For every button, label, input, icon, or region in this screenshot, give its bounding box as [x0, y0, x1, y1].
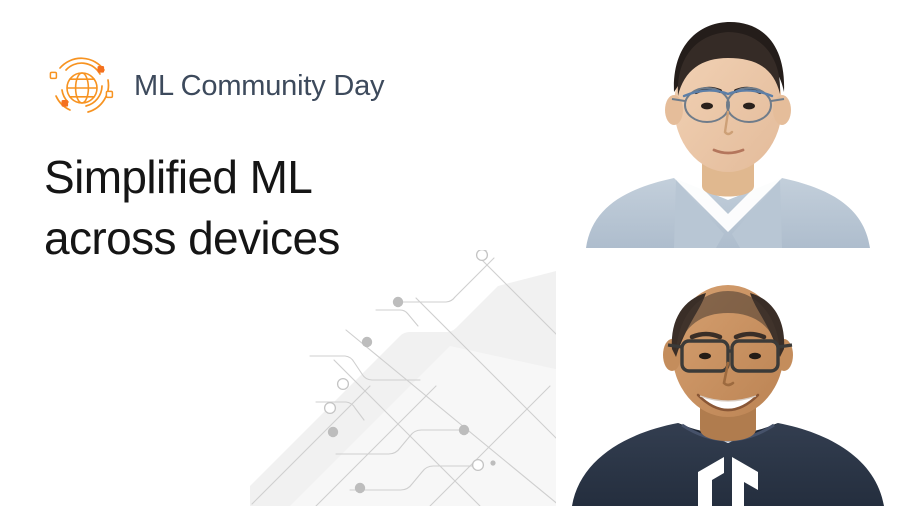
trace-diagonal-6 — [252, 386, 370, 504]
trace-diagonal-2 — [482, 260, 560, 338]
trace-diagonal-5 — [334, 360, 480, 506]
circuit-node-hollow — [325, 250, 488, 470]
globe-orbit-icon — [44, 48, 120, 124]
trace-diagonal-8 — [430, 386, 550, 506]
circuit-trace-pattern — [250, 250, 560, 506]
presentation-slide: ML Community Day Simplified ML across de… — [0, 0, 900, 506]
wedge-shape — [250, 270, 560, 506]
node-hollow-left — [50, 72, 56, 78]
trace-diagonal-7 — [316, 386, 436, 506]
speaker-photo-1 — [556, 0, 900, 248]
wedge-shape-soft — [290, 346, 560, 506]
trace-step-3 — [316, 402, 364, 420]
trace-step-4 — [336, 430, 462, 454]
trace-step-2 — [310, 356, 420, 380]
page-title: Simplified ML across devices — [44, 147, 340, 269]
trace-step-1 — [400, 258, 494, 302]
speaker-photo-2 — [556, 253, 900, 506]
node-hollow-right — [106, 91, 112, 97]
trace-step-5 — [350, 466, 476, 490]
brand-lockup: ML Community Day — [44, 48, 384, 124]
trace-diagonal-3 — [416, 298, 560, 442]
node-filled-top-right — [98, 66, 105, 73]
node-filled-bottom-left — [62, 100, 69, 107]
circuit-node-filled — [328, 297, 496, 493]
trace-diagonal-4 — [346, 330, 560, 506]
brand-name: ML Community Day — [134, 72, 384, 101]
trace-step-6 — [376, 310, 418, 326]
